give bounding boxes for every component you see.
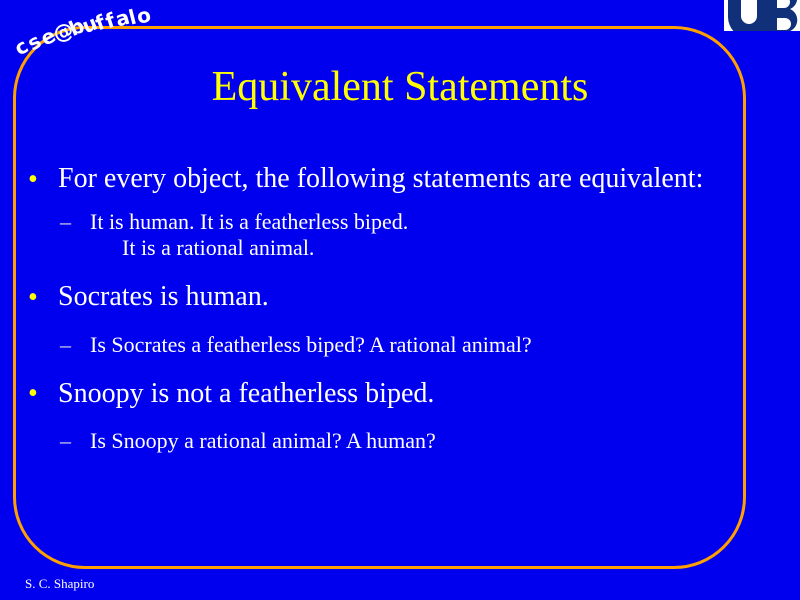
bullet-marker-dot: • — [28, 282, 38, 314]
page-title: Equivalent Statements — [0, 64, 800, 110]
cse-buffalo-wordmark: c s e @ b u f f a l o — [6, 2, 166, 50]
bullet-level2-2: – Is Socrates a featherless biped? A rat… — [24, 332, 764, 358]
bullet-text: Socrates is human. — [58, 281, 269, 312]
presentation-slide: c s e @ b u f f a l o Equivalent Stateme… — [0, 0, 800, 600]
slide-body: • For every object, the following statem… — [24, 163, 764, 464]
bullet-text: Is Snoopy a rational animal? A human? — [90, 428, 436, 453]
ub-logo — [724, 0, 800, 31]
bullet-marker-dot: • — [28, 164, 38, 196]
bullet-marker-dash: – — [60, 332, 71, 358]
bullet-level1-2: • Socrates is human. — [24, 281, 764, 313]
bullet-text-wrap: It is a rational animal. — [90, 235, 764, 261]
bullet-marker-dash: – — [60, 209, 71, 235]
bullet-level1-3: • Snoopy is not a featherless biped. — [24, 378, 764, 410]
bullet-text: For every object, the following statemen… — [58, 163, 703, 194]
bullet-level2-3: – Is Snoopy a rational animal? A human? — [24, 428, 764, 454]
wordmark-letter-o: o — [135, 4, 153, 26]
bullet-text: Snoopy is not a featherless biped. — [58, 378, 434, 409]
bullet-level2-1: – It is human. It is a featherless biped… — [24, 209, 764, 261]
bullet-marker-dash: – — [60, 428, 71, 454]
bullet-marker-dot: • — [28, 378, 38, 410]
footer-author: S. C. Shapiro — [25, 576, 94, 592]
bullet-text: It is human. It is a featherless biped. — [90, 209, 408, 234]
bullet-text: Is Socrates a featherless biped? A ratio… — [90, 332, 532, 357]
bullet-level1-1: • For every object, the following statem… — [24, 163, 764, 195]
